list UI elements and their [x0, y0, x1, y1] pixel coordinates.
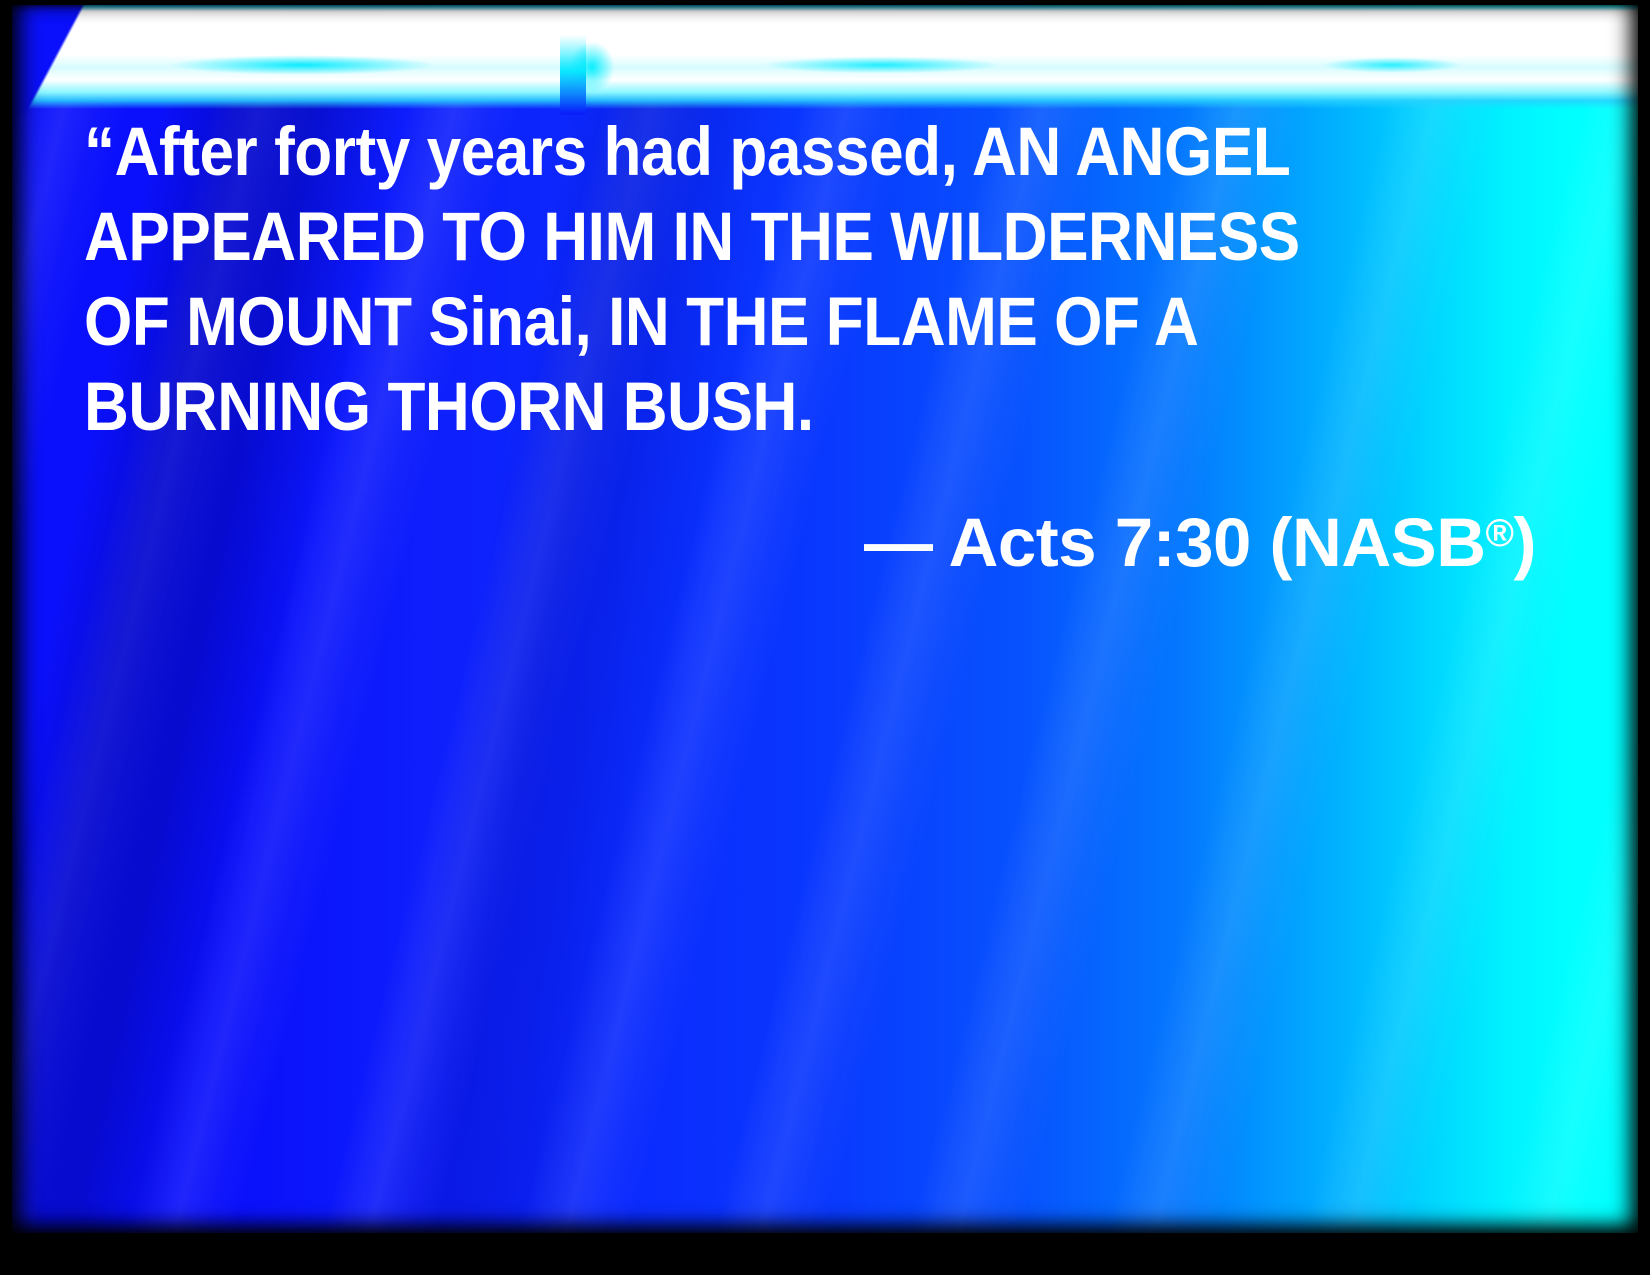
- scripture-quote-block: “After forty years had passed, AN ANGEL …: [84, 109, 1546, 585]
- citation-prefix: — Acts 7:30 (NASB: [864, 504, 1486, 581]
- quote-line-4: BURNING THORN BUSH.: [84, 364, 1400, 449]
- quote-line-1: “After forty years had passed, AN ANGEL: [84, 109, 1400, 194]
- quote-line-3: OF MOUNT Sinai, IN THE FLAME OF A: [84, 279, 1400, 364]
- slide-canvas: “After forty years had passed, AN ANGEL …: [12, 5, 1638, 1233]
- top-glow-notch: [560, 35, 586, 115]
- scripture-citation: — Acts 7:30 (NASB®): [84, 491, 1546, 585]
- top-glow-shoulder: [12, 5, 272, 115]
- registered-trademark-icon: ®: [1486, 512, 1514, 555]
- quote-line-2: APPEARED TO HIM IN THE WILDERNESS: [84, 194, 1400, 279]
- citation-suffix: ): [1514, 504, 1536, 581]
- scripture-slide: “After forty years had passed, AN ANGEL …: [0, 0, 1650, 1275]
